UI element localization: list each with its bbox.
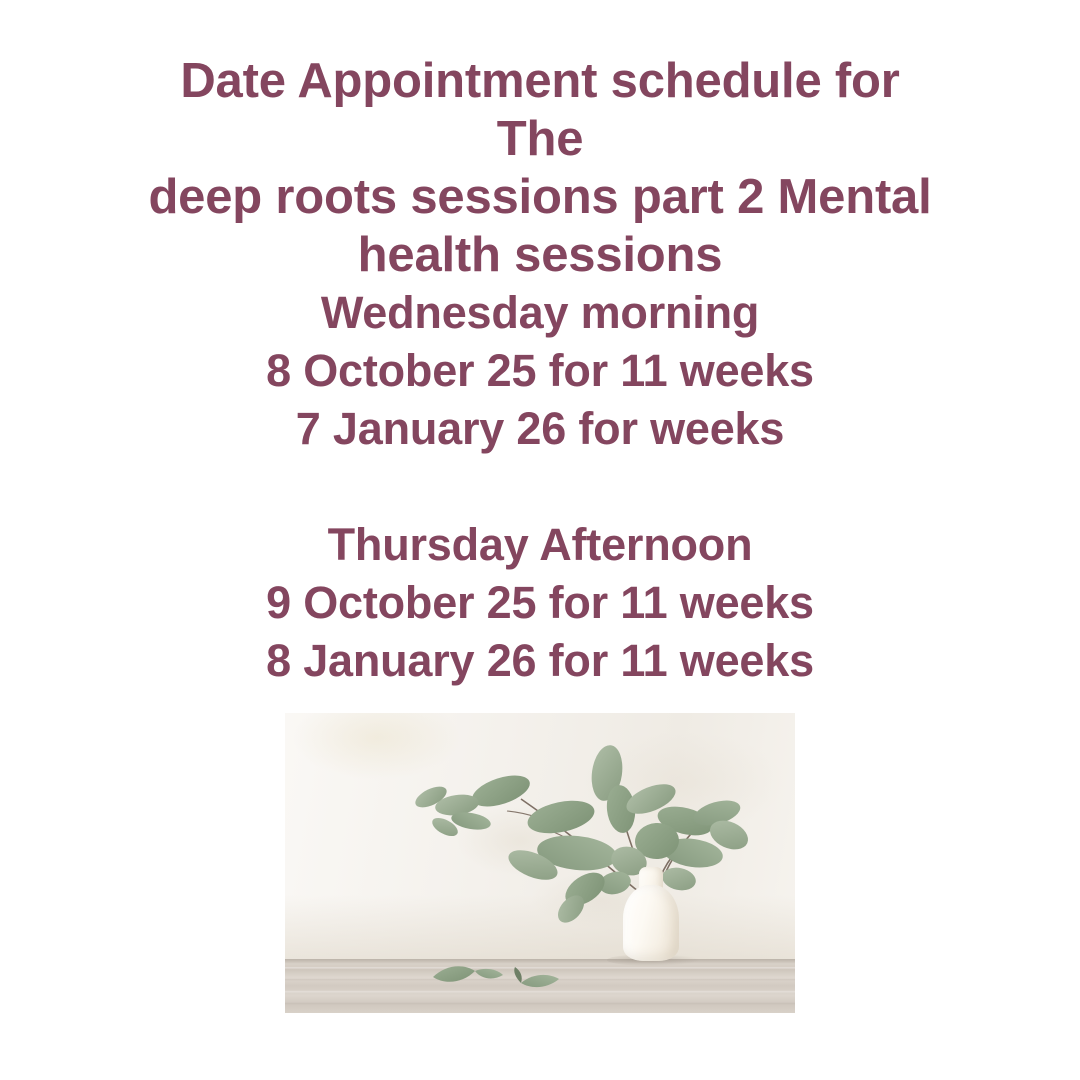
wood-grain-texture xyxy=(285,959,795,1013)
page-title-line-3: health sessions xyxy=(140,226,940,284)
session-date-line: 9 October 25 for 11 weeks xyxy=(0,574,1080,632)
page-title: Date Appointment schedule for The deep r… xyxy=(140,52,940,284)
session-date-line: 8 October 25 for 11 weeks xyxy=(0,342,1080,400)
plaster-wall-background xyxy=(285,713,795,959)
poster-canvas: Date Appointment schedule for The deep r… xyxy=(0,0,1080,1080)
vase-body xyxy=(623,885,679,961)
session-date-line: 8 January 26 for 11 weeks xyxy=(0,632,1080,690)
page-title-line-2: deep roots sessions part 2 Mental xyxy=(140,168,940,226)
session-group-heading: Thursday Afternoon xyxy=(0,516,1080,574)
photo-canvas xyxy=(285,713,795,1013)
still-life-photo xyxy=(285,713,795,1013)
page-title-line-1: Date Appointment schedule for The xyxy=(140,52,940,168)
group-spacer xyxy=(0,458,1080,516)
session-group-wednesday: Wednesday morning 8 October 25 for 11 we… xyxy=(0,284,1080,458)
schedule-text-block: Date Appointment schedule for The deep r… xyxy=(0,0,1080,690)
wooden-table-surface xyxy=(285,959,795,1013)
session-group-heading: Wednesday morning xyxy=(0,284,1080,342)
ceramic-vase xyxy=(623,863,679,961)
session-group-thursday: Thursday Afternoon 9 October 25 for 11 w… xyxy=(0,516,1080,690)
session-date-line: 7 January 26 for weeks xyxy=(0,400,1080,458)
